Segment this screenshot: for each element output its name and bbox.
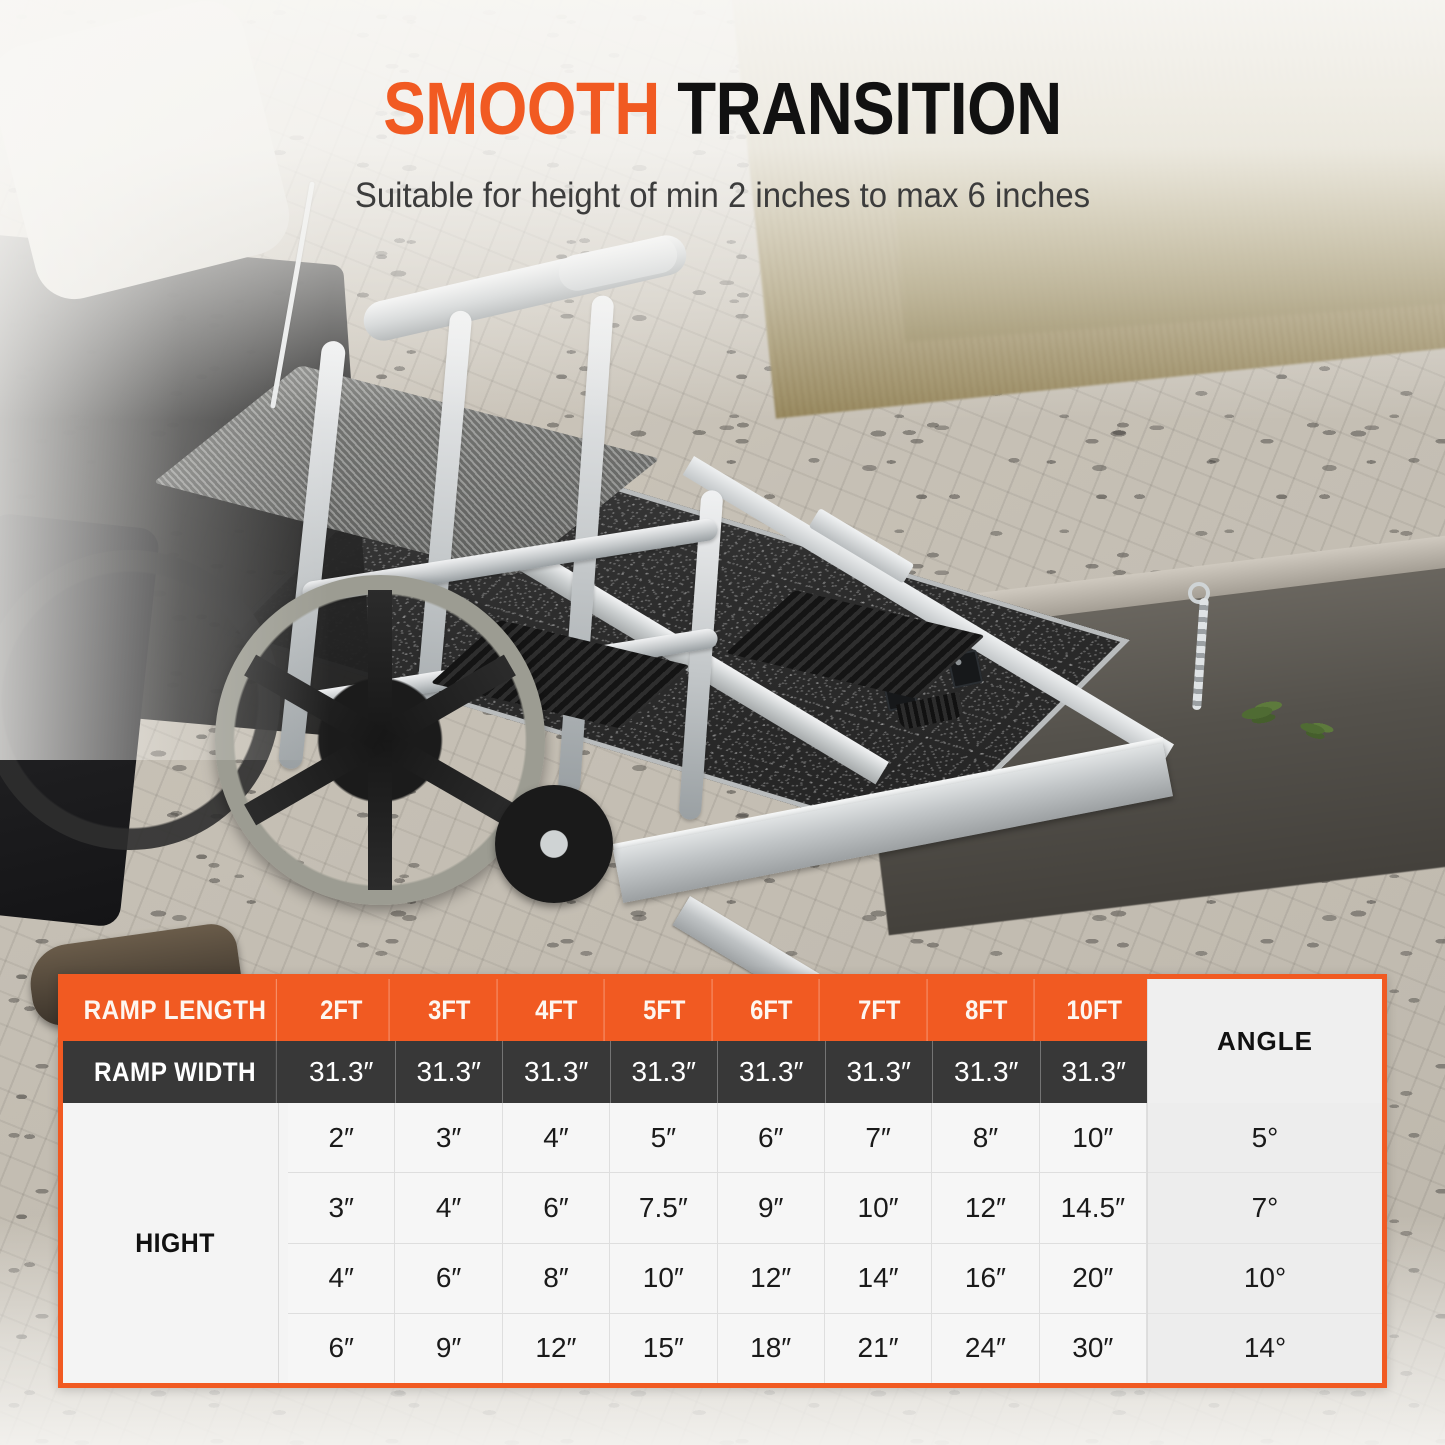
spec-table-body: HIGHT 2″ 3″ 4″ 5″ 6″ 7″ 8″ 10″ 3″ 4″ 6″ … (63, 1103, 1382, 1383)
height-cell: 20″ (1040, 1244, 1147, 1313)
height-cell: 18″ (718, 1314, 825, 1383)
wheel-spoke (244, 655, 386, 751)
spec-table-header-left: RAMP LENGTH 2FT 3FT 4FT 5FT 6FT 7FT 8FT … (63, 979, 1147, 1103)
height-cell: 8″ (932, 1103, 1039, 1172)
height-cell: 24″ (932, 1314, 1039, 1383)
height-cell: 14″ (825, 1244, 932, 1313)
ramp-width-label: RAMP WIDTH (74, 1041, 277, 1103)
page-title-main: TRANSITION (677, 67, 1062, 150)
table-row: 6″ 9″ 12″ 15″ 18″ 21″ 24″ 30″ (288, 1314, 1147, 1383)
height-cell: 5″ (610, 1103, 717, 1172)
wheel-spoke (374, 730, 516, 826)
height-cell: 21″ (825, 1314, 932, 1383)
width-cell: 31.3″ (933, 1041, 1041, 1103)
hight-label: HIGHT (72, 1103, 279, 1383)
wheelchair-caster-wheel (495, 785, 613, 903)
table-row: 3″ 4″ 6″ 7.5″ 9″ 10″ 12″ 14.5″ (288, 1173, 1147, 1243)
height-cell: 10″ (610, 1244, 717, 1313)
width-cell: 31.3″ (396, 1041, 504, 1103)
height-cell: 4″ (395, 1173, 502, 1242)
wheel-spoke (368, 740, 392, 890)
height-cell: 3″ (395, 1103, 502, 1172)
table-row: 2″ 3″ 4″ 5″ 6″ 7″ 8″ 10″ (288, 1103, 1147, 1173)
height-cell: 9″ (718, 1173, 825, 1242)
height-value-grid: 2″ 3″ 4″ 5″ 6″ 7″ 8″ 10″ 3″ 4″ 6″ 7.5″ 9… (288, 1103, 1147, 1383)
width-cell: 31.3″ (1041, 1041, 1148, 1103)
height-cell: 7.5″ (610, 1173, 717, 1242)
angle-cell: 14° (1148, 1314, 1382, 1383)
ramp-length-row: RAMP LENGTH 2FT 3FT 4FT 5FT 6FT 7FT 8FT … (63, 979, 1147, 1041)
angle-column: 5° 7° 10° 14° (1147, 1103, 1382, 1383)
length-header-cell: 8FT (939, 979, 1034, 1041)
angle-cell: 5° (1148, 1103, 1382, 1173)
width-cell: 31.3″ (288, 1041, 396, 1103)
width-cell: 31.3″ (503, 1041, 611, 1103)
length-header-cell: 2FT (294, 979, 389, 1041)
angle-header: ANGLE (1147, 979, 1382, 1103)
height-cell: 10″ (825, 1173, 932, 1242)
height-cell: 2″ (288, 1103, 395, 1172)
height-cell: 6″ (288, 1314, 395, 1383)
height-cell: 14.5″ (1040, 1173, 1147, 1242)
ramp-width-row: RAMP WIDTH 31.3″ 31.3″ 31.3″ 31.3″ 31.3″… (63, 1041, 1147, 1103)
length-header-cell: 6FT (724, 979, 819, 1041)
height-cell: 7″ (825, 1103, 932, 1172)
width-cell: 31.3″ (718, 1041, 826, 1103)
length-header-cell: 10FT (1047, 979, 1141, 1041)
height-cell: 4″ (288, 1244, 395, 1313)
height-cell: 15″ (610, 1314, 717, 1383)
spec-table: RAMP LENGTH 2FT 3FT 4FT 5FT 6FT 7FT 8FT … (58, 974, 1387, 1388)
height-cell: 12″ (932, 1173, 1039, 1242)
page-subtitle: Suitable for height of min 2 inches to m… (43, 176, 1401, 216)
height-cell: 30″ (1040, 1314, 1147, 1383)
height-cell: 12″ (718, 1244, 825, 1313)
page-title-accent: SMOOTH (383, 67, 660, 150)
height-cell: 6″ (503, 1173, 610, 1242)
width-cell: 31.3″ (611, 1041, 719, 1103)
width-cell: 31.3″ (826, 1041, 934, 1103)
angle-cell: 10° (1148, 1244, 1382, 1314)
table-row: 4″ 6″ 8″ 10″ 12″ 14″ 16″ 20″ (288, 1244, 1147, 1314)
length-header-cell: 4FT (509, 979, 604, 1041)
spec-table-header-block: RAMP LENGTH 2FT 3FT 4FT 5FT 6FT 7FT 8FT … (63, 979, 1382, 1103)
safety-chain (1192, 598, 1209, 710)
wheel-spoke (368, 590, 392, 740)
ramp-length-label: RAMP LENGTH (74, 979, 277, 1041)
length-header-cell: 7FT (832, 979, 927, 1041)
height-cell: 9″ (395, 1314, 502, 1383)
height-cell: 6″ (718, 1103, 825, 1172)
angle-cell: 7° (1148, 1173, 1382, 1243)
height-cell: 10″ (1040, 1103, 1147, 1172)
height-cell: 12″ (503, 1314, 610, 1383)
page-title: SMOOTH TRANSITION (101, 72, 1344, 146)
height-cell: 4″ (503, 1103, 610, 1172)
height-cell: 3″ (288, 1173, 395, 1242)
height-cell: 8″ (503, 1244, 610, 1313)
wheelchair (0, 190, 760, 950)
height-cell: 6″ (395, 1244, 502, 1313)
length-header-cell: 3FT (402, 979, 497, 1041)
height-cell: 16″ (932, 1244, 1039, 1313)
length-header-cell: 5FT (617, 979, 712, 1041)
